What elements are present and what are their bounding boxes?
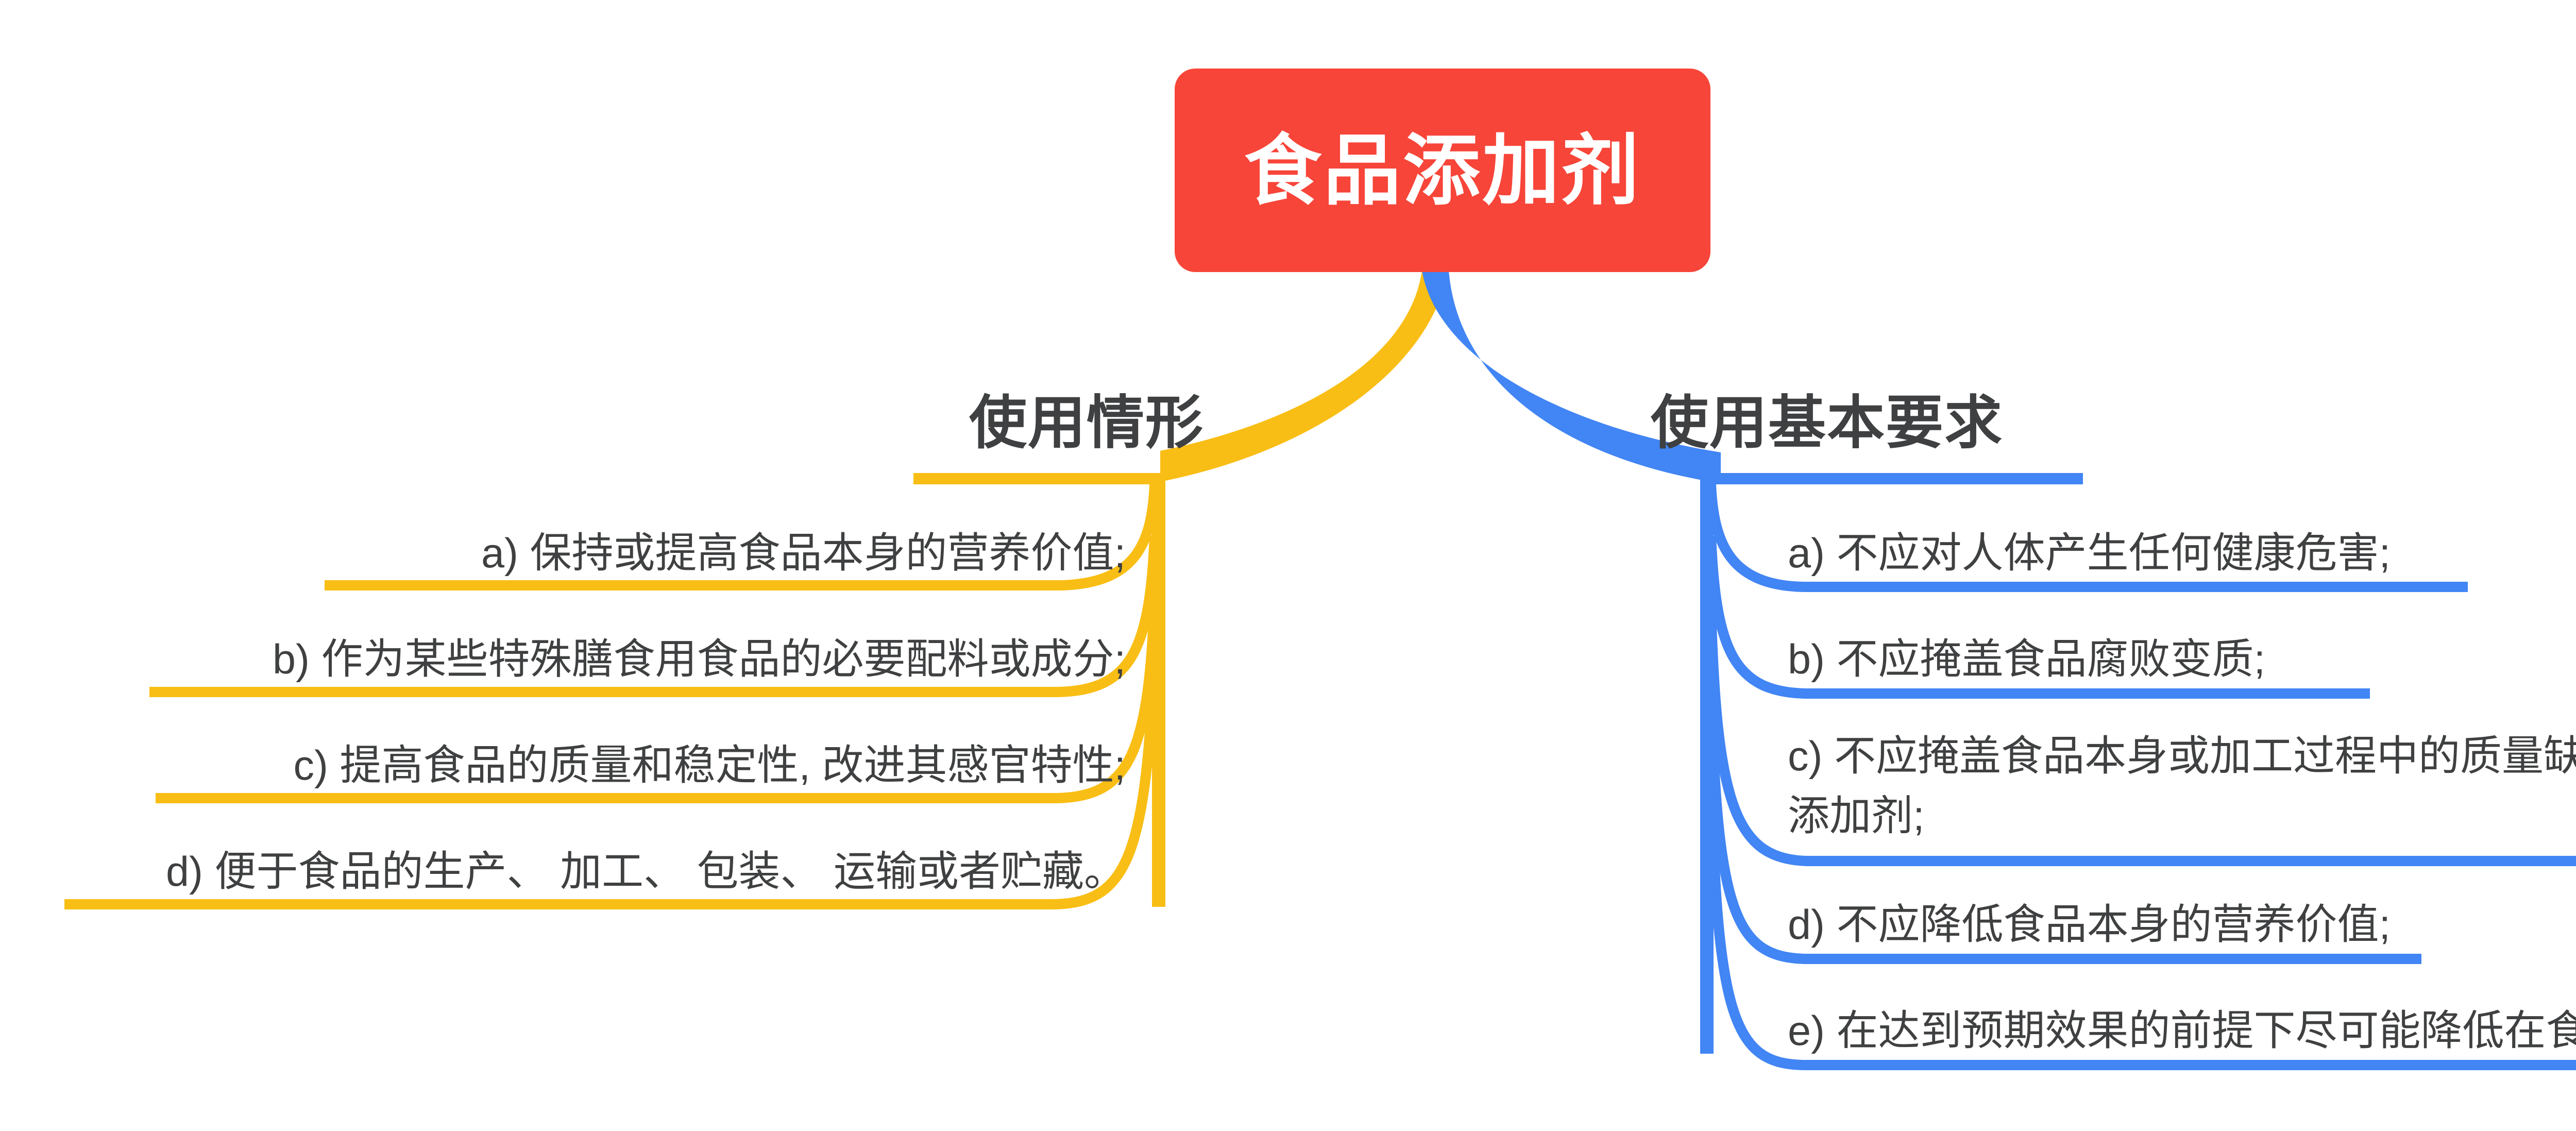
leaf-node-requirement-c[interactable]: c) 不应掩盖食品本身或加工过程中的质量缺陷或以掺杂、 掺假、 伪造为目的而使用… (1788, 727, 2576, 846)
mindmap-canvas: 食品添加剂 使用情形 使用基本要求 a) 保持或提高食品本身的营养价值; b) … (0, 0, 2576, 1131)
text-layer: 食品添加剂 使用情形 使用基本要求 a) 保持或提高食品本身的营养价值; b) … (0, 0, 2576, 1131)
leaf-node-requirement-e[interactable]: e) 在达到预期效果的前提下尽可能降低在食品中的使用量。 (1788, 1001, 2576, 1061)
root-label: 食品添加剂 (1244, 132, 1641, 209)
leaf-node-requirement-a[interactable]: a) 不应对人体产生任何健康危害; (1788, 524, 2391, 583)
leaf-node-usage-c[interactable]: c) 提高食品的质量和稳定性, 改进其感官特性; (294, 736, 1126, 796)
leaf-node-usage-d[interactable]: d) 便于食品的生产、 加工、 包装、 运输或者贮藏。 (166, 842, 1126, 902)
leaf-node-usage-a[interactable]: a) 保持或提高食品本身的营养价值; (481, 524, 1126, 583)
leaf-node-requirement-d[interactable]: d) 不应降低食品本身的营养价值; (1788, 895, 2391, 955)
root-node[interactable]: 食品添加剂 (1175, 69, 1710, 272)
leaf-node-requirement-b[interactable]: b) 不应掩盖食品腐败变质; (1788, 630, 2265, 689)
leaf-node-usage-b[interactable]: b) 作为某些特殊膳食用食品的必要配料或成分; (273, 630, 1126, 689)
branch-label-usage-scenarios[interactable]: 使用情形 (969, 394, 1204, 452)
branch-label-basic-requirements[interactable]: 使用基本要求 (1651, 394, 2003, 452)
